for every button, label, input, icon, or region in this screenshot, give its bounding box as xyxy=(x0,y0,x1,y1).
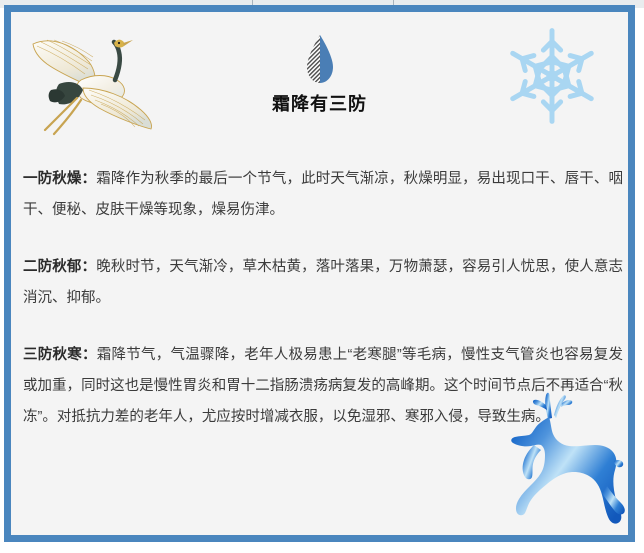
snowflake-icon xyxy=(498,22,606,130)
water-drop-icon xyxy=(303,34,337,86)
paragraph-2-lead: 二防秋郁： xyxy=(23,259,96,275)
article-header: 霜降有三防 xyxy=(11,12,628,162)
article-body: 一防秋燥：霜降作为秋季的最后一个节气，此时天气渐凉，秋燥明显，易出现口干、唇干、… xyxy=(23,164,623,433)
paragraph-1-lead: 一防秋燥： xyxy=(23,171,96,187)
paragraph-3-lead: 三防秋寒： xyxy=(23,347,97,363)
paragraph-3: 三防秋寒：霜降节气，气温骤降，老年人极易患上“老寒腿”等毛病，慢性支气管炎也容易… xyxy=(23,340,623,433)
paragraph-1: 一防秋燥：霜降作为秋季的最后一个节气，此时天气渐凉，秋燥明显，易出现口干、唇干、… xyxy=(23,164,623,226)
paragraph-2: 二防秋郁：晚秋时节，天气渐冷，草木枯黄，落叶落果，万物萧瑟，容易引人忧思，使人意… xyxy=(23,252,623,314)
paragraph-3-text: 霜降节气，气温骤降，老年人极易患上“老寒腿”等毛病，慢性支气管炎也容易复发或加重… xyxy=(23,347,623,425)
paragraph-1-text: 霜降作为秋季的最后一个节气，此时天气渐凉，秋燥明显，易出现口干、唇干、咽干、便秘… xyxy=(23,171,623,218)
article-card: 霜降有三防 xyxy=(4,5,635,542)
article-card-inner: 霜降有三防 xyxy=(11,12,628,535)
paragraph-2-text: 晚秋时节，天气渐冷，草木枯黄，落叶落果，万物萧瑟，容易引人忧思，使人意志消沉、抑… xyxy=(23,259,623,306)
